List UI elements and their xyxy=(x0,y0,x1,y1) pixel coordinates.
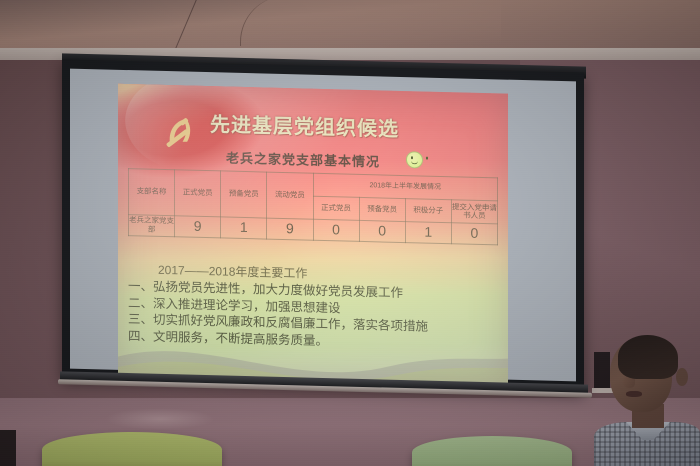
attendee-hair xyxy=(618,335,678,379)
cell-floating: 9 xyxy=(267,218,313,240)
round-table-left xyxy=(42,432,222,466)
slide-subtitle: 老兵之家党支部基本情况 xyxy=(226,148,380,171)
th-branch-name: 支部名称 xyxy=(129,169,175,216)
window-edge-left xyxy=(0,430,16,466)
seated-attendee xyxy=(596,338,700,466)
cell-g-activist: 1 xyxy=(405,222,451,244)
th-g-full-member: 正式党员 xyxy=(313,196,359,220)
work-item-list: 一、弘扬党员先进性，加大力度做好党员发展工作 二、深入推进理论学习，加强思想建设… xyxy=(128,278,508,354)
th-g-probationary: 预备党员 xyxy=(359,197,405,221)
ceiling-seam xyxy=(173,0,201,55)
projection-screen: 先进基层党组织候选 老兵之家党支部基本情况 支部名称 正式党员 预备党员 流动党… xyxy=(62,59,584,392)
cell-g-probationary: 0 xyxy=(359,220,405,242)
attendee-ear xyxy=(676,368,688,386)
wall-highlight xyxy=(105,408,215,430)
th-floating-member: 流动党员 xyxy=(267,172,313,219)
th-full-member: 正式党员 xyxy=(175,170,221,217)
cell-full-member: 9 xyxy=(175,216,221,238)
th-g-activist: 积极分子 xyxy=(405,199,451,223)
projector-room-photo: 先进基层党组织候选 老兵之家党支部基本情况 支部名称 正式党员 预备党员 流动党… xyxy=(0,0,700,466)
cell-branch-name: 老兵之家党支部 xyxy=(129,215,175,237)
cell-g-full-member: 0 xyxy=(313,219,359,241)
projected-slide: 先进基层党组织候选 老兵之家党支部基本情况 支部名称 正式党员 预备党员 流动党… xyxy=(118,84,508,386)
branch-stats-table: 支部名称 正式党员 预备党员 流动党员 2018年上半年发展情况 正式党员 预备… xyxy=(128,168,498,245)
smiley-face-icon xyxy=(406,151,423,168)
round-table-right xyxy=(412,436,572,466)
cell-g-applicants: 0 xyxy=(451,223,497,245)
th-probationary-member: 预备党员 xyxy=(221,171,267,218)
slide-title: 先进基层党组织候选 xyxy=(210,108,399,142)
ceiling-panel-edge xyxy=(240,0,501,46)
screen-surface: 先进基层党组织候选 老兵之家党支部基本情况 支部名称 正式党员 预备党员 流动党… xyxy=(70,69,576,382)
cell-probationary: 1 xyxy=(221,217,267,239)
th-g-applicants: 提交入党申请书人员 xyxy=(451,200,497,224)
attendee-mouth xyxy=(626,391,642,397)
